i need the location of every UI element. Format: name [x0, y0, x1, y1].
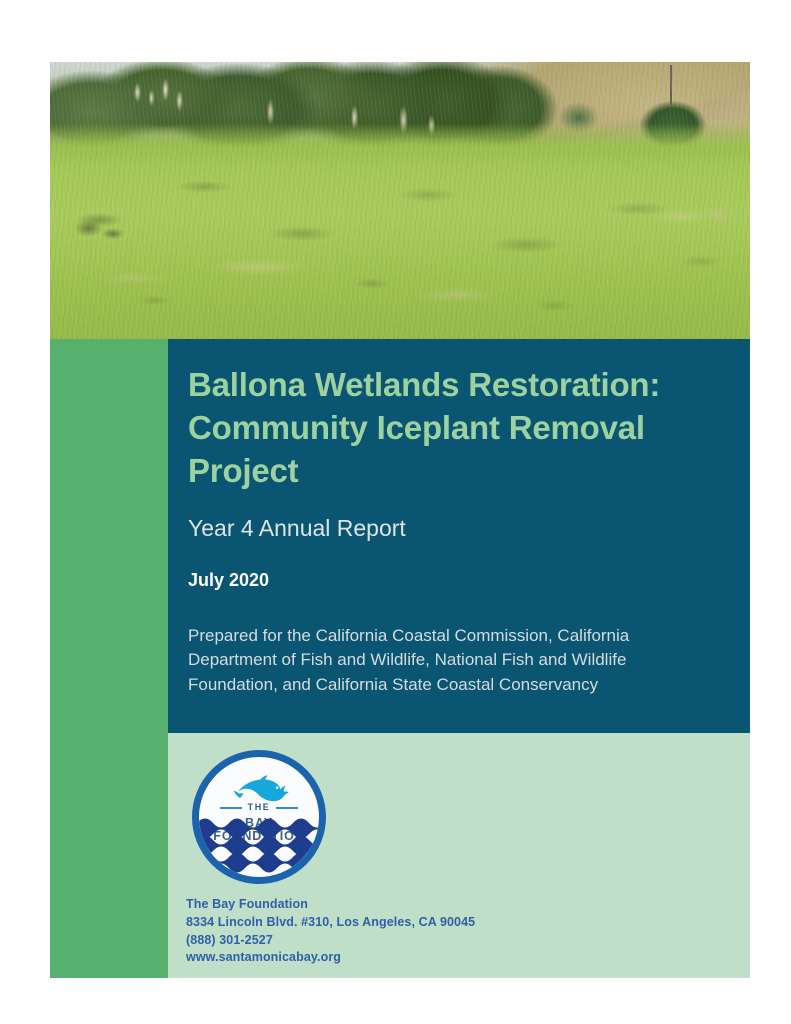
contact-phone: (888) 301-2527 [186, 932, 475, 950]
footer-panel: THE BAY FOUNDATION The Bay Foundation 83… [168, 733, 750, 978]
cover-page: Ballona Wetlands Restoration: Community … [0, 0, 791, 1024]
waves-icon [199, 815, 319, 877]
logo-the-row: THE [199, 803, 319, 812]
logo-rule-right [276, 807, 298, 809]
accent-column [50, 339, 168, 978]
logo-inner: THE BAY FOUNDATION [199, 757, 319, 877]
contact-website[interactable]: www.santamonicabay.org [186, 949, 475, 967]
bay-foundation-logo: THE BAY FOUNDATION [192, 750, 326, 884]
contact-block: The Bay Foundation 8334 Lincoln Blvd. #3… [186, 896, 475, 967]
logo-ring: THE BAY FOUNDATION [192, 750, 326, 884]
logo-rule-left [220, 807, 242, 809]
page-title: Ballona Wetlands Restoration: Community … [188, 363, 716, 493]
title-panel: Ballona Wetlands Restoration: Community … [168, 339, 750, 733]
dolphin-icon [233, 775, 289, 803]
report-subtitle: Year 4 Annual Report [188, 515, 716, 543]
contact-address: 8334 Lincoln Blvd. #310, Los Angeles, CA… [186, 914, 475, 932]
photo-dry-patch-layer [50, 62, 750, 339]
publication-date: July 2020 [188, 570, 716, 592]
contact-organization: The Bay Foundation [186, 896, 475, 914]
prepared-for-text: Prepared for the California Coastal Comm… [188, 624, 716, 698]
hero-photograph [50, 62, 750, 339]
logo-the-label: THE [248, 803, 271, 812]
